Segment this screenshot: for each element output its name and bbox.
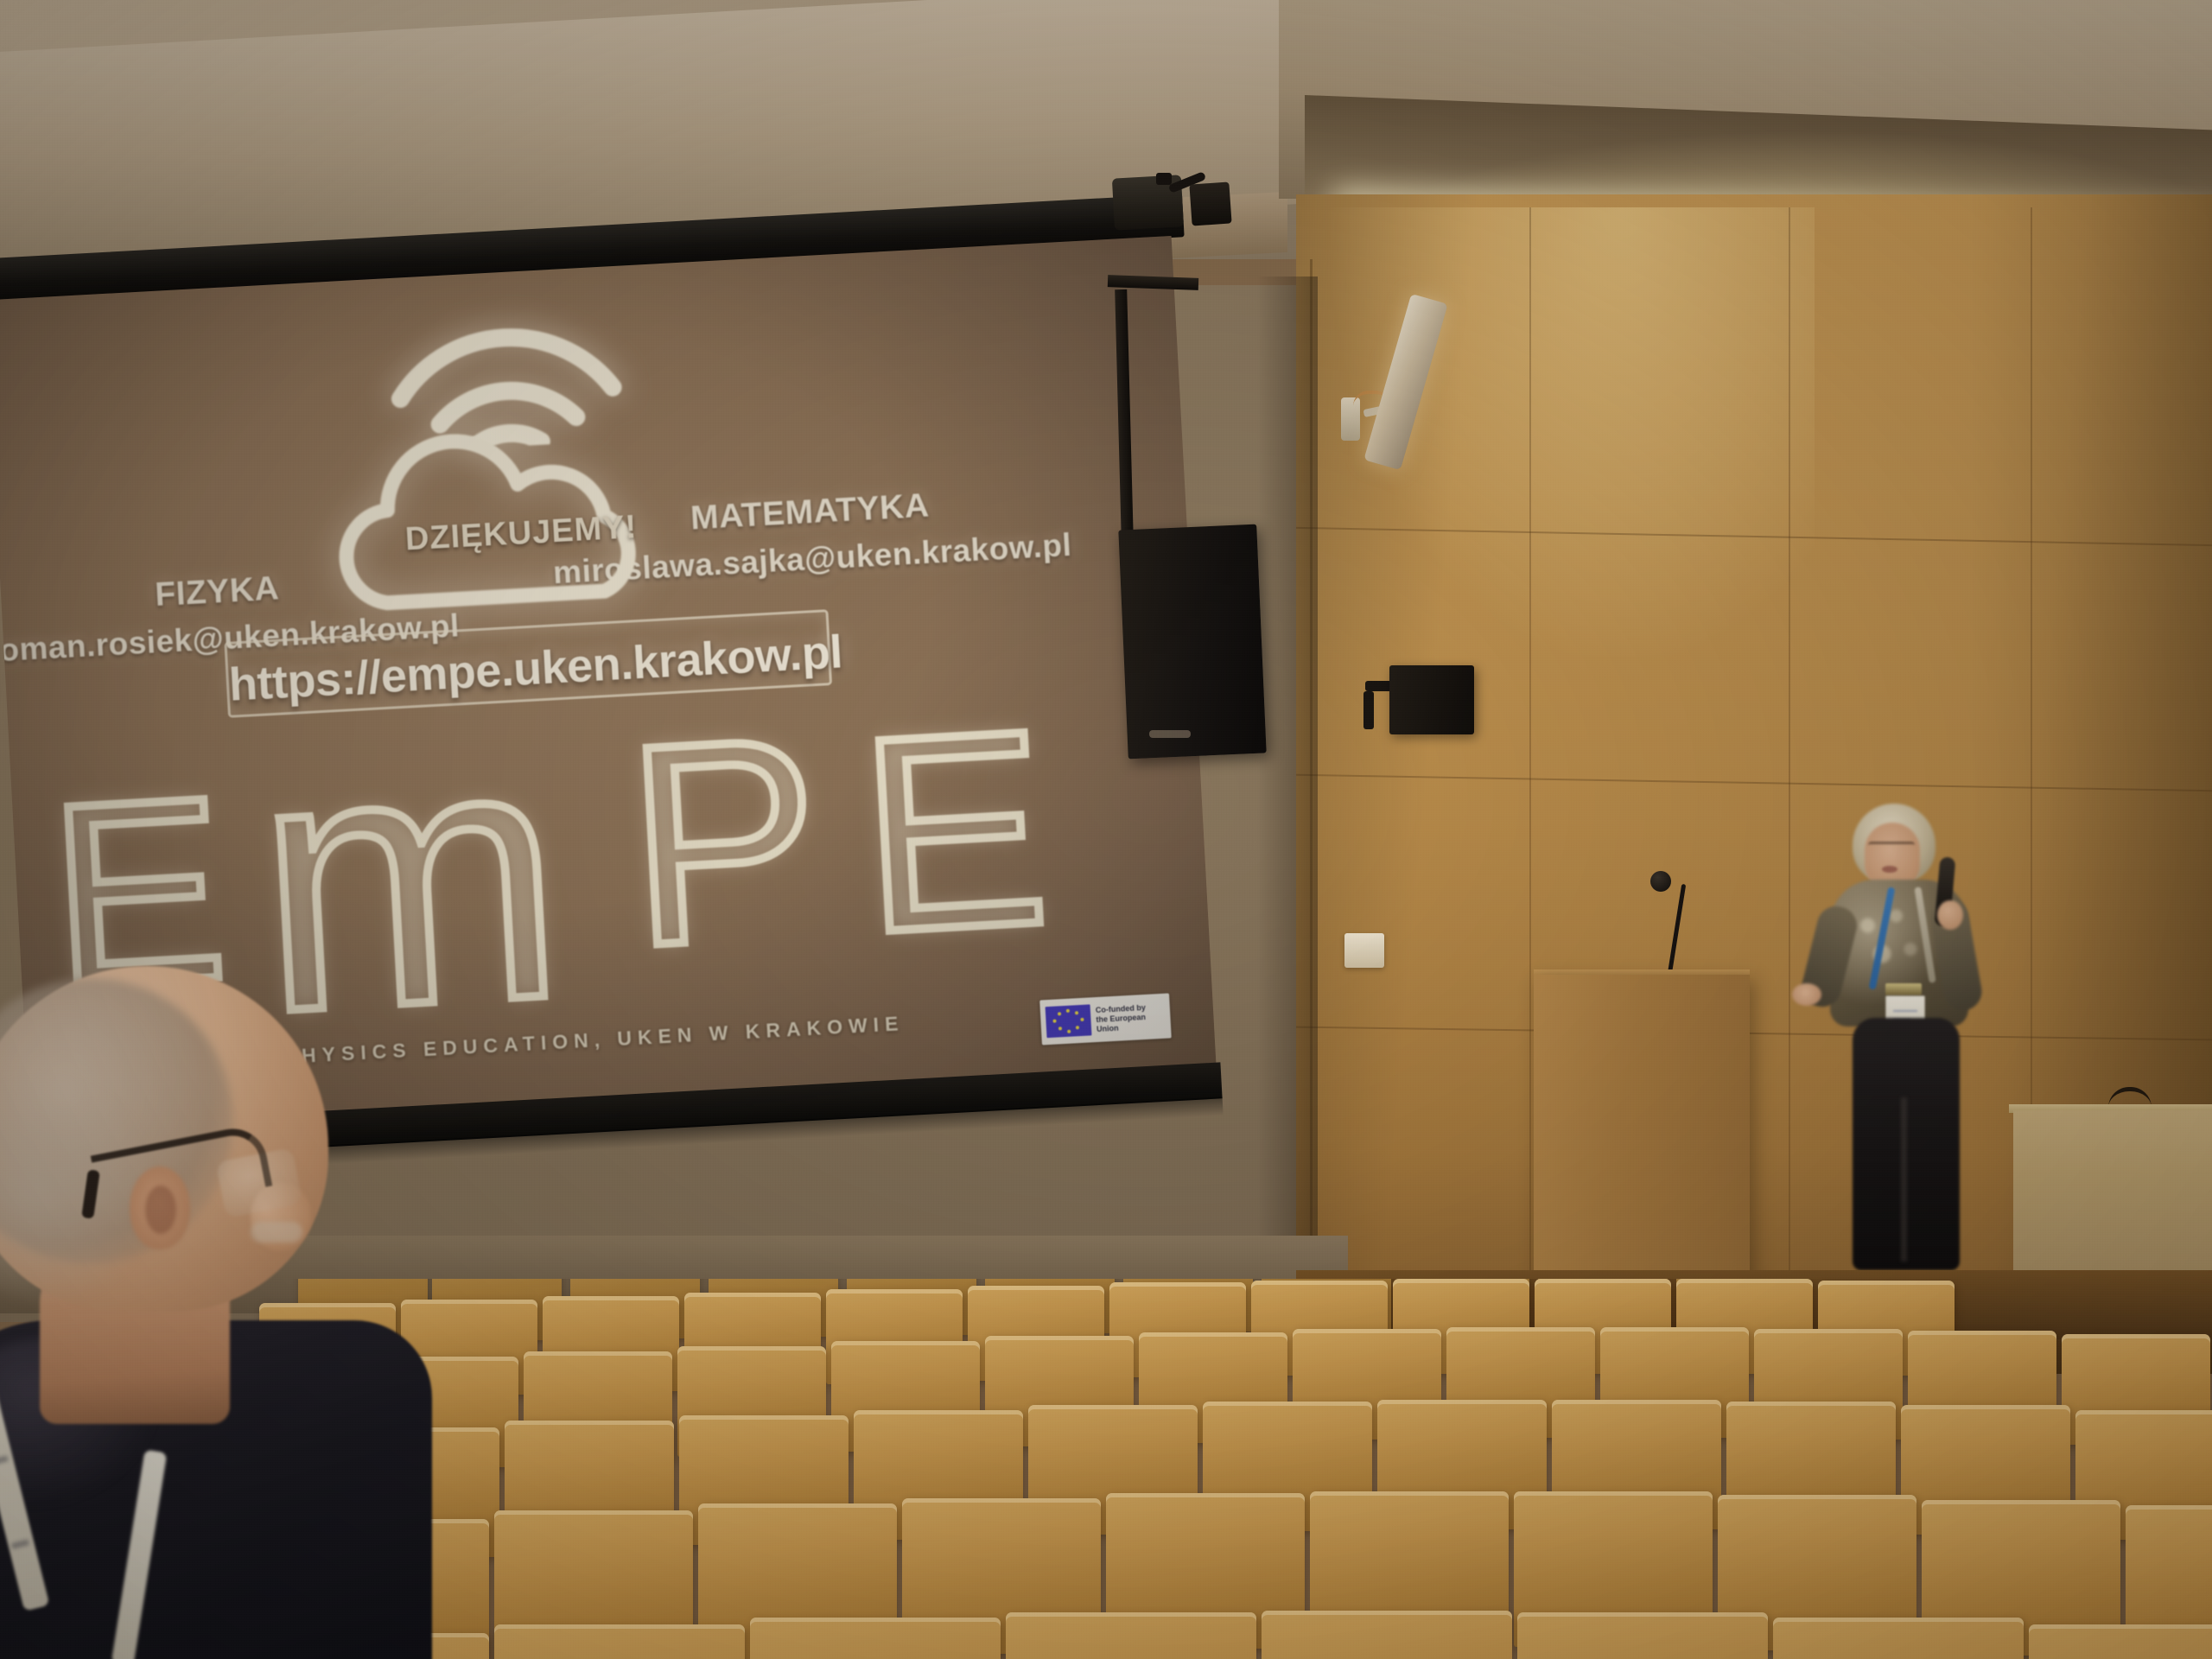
eu-funding-logo: Co-funded by the European Union	[1039, 993, 1172, 1045]
presenter-right-hand	[1937, 900, 1963, 930]
auditorium-seat[interactable]	[1517, 1612, 1768, 1659]
eu-flag-icon	[1046, 1004, 1092, 1038]
wordmark-letter-3: P	[621, 698, 826, 984]
auditorium-seat[interactable]	[2029, 1624, 2212, 1659]
eu-logo-caption-line2: the European Union	[1096, 1011, 1166, 1033]
auditorium-seat[interactable]	[1006, 1612, 1256, 1659]
seated-attendee	[0, 966, 518, 1659]
speaker-port	[1149, 730, 1191, 738]
wall-outlet-plate	[1344, 933, 1384, 968]
auditorium-seat[interactable]	[494, 1624, 745, 1659]
auditorium-seat[interactable]	[750, 1618, 1001, 1659]
photo-scene: FIZYKA roman.rosiek@uken.krakow.pl MATEM…	[0, 0, 2212, 1659]
eu-logo-caption: Co-funded by the European Union	[1096, 1001, 1166, 1033]
ceiling-camera	[1189, 181, 1231, 226]
presenter-mouth	[1882, 866, 1897, 873]
badge-clip	[1885, 983, 1922, 995]
presenter-left-hand	[1792, 983, 1821, 1006]
presenter	[1799, 804, 2015, 1270]
wall-corner-shadow	[1257, 276, 1318, 1322]
camera-mount	[1156, 173, 1172, 185]
small-wall-speaker	[1389, 665, 1474, 734]
gooseneck-microphone-head	[1650, 871, 1671, 892]
wood-seam-vertical	[1529, 207, 1531, 1296]
large-wall-speaker	[1118, 524, 1266, 760]
attendee-moustache	[251, 1222, 302, 1243]
speaker-bracket	[1363, 691, 1374, 729]
stage-table	[2013, 1110, 2212, 1270]
presenter-glasses	[1868, 842, 1915, 853]
auditorium-seat[interactable]	[1773, 1618, 2024, 1659]
auditorium-seat[interactable]	[1262, 1611, 1512, 1659]
wood-seam-vertical	[1789, 207, 1790, 1296]
presenter-leg-gap	[1901, 1097, 1907, 1262]
wordmark-letter-4: E	[855, 688, 1053, 974]
